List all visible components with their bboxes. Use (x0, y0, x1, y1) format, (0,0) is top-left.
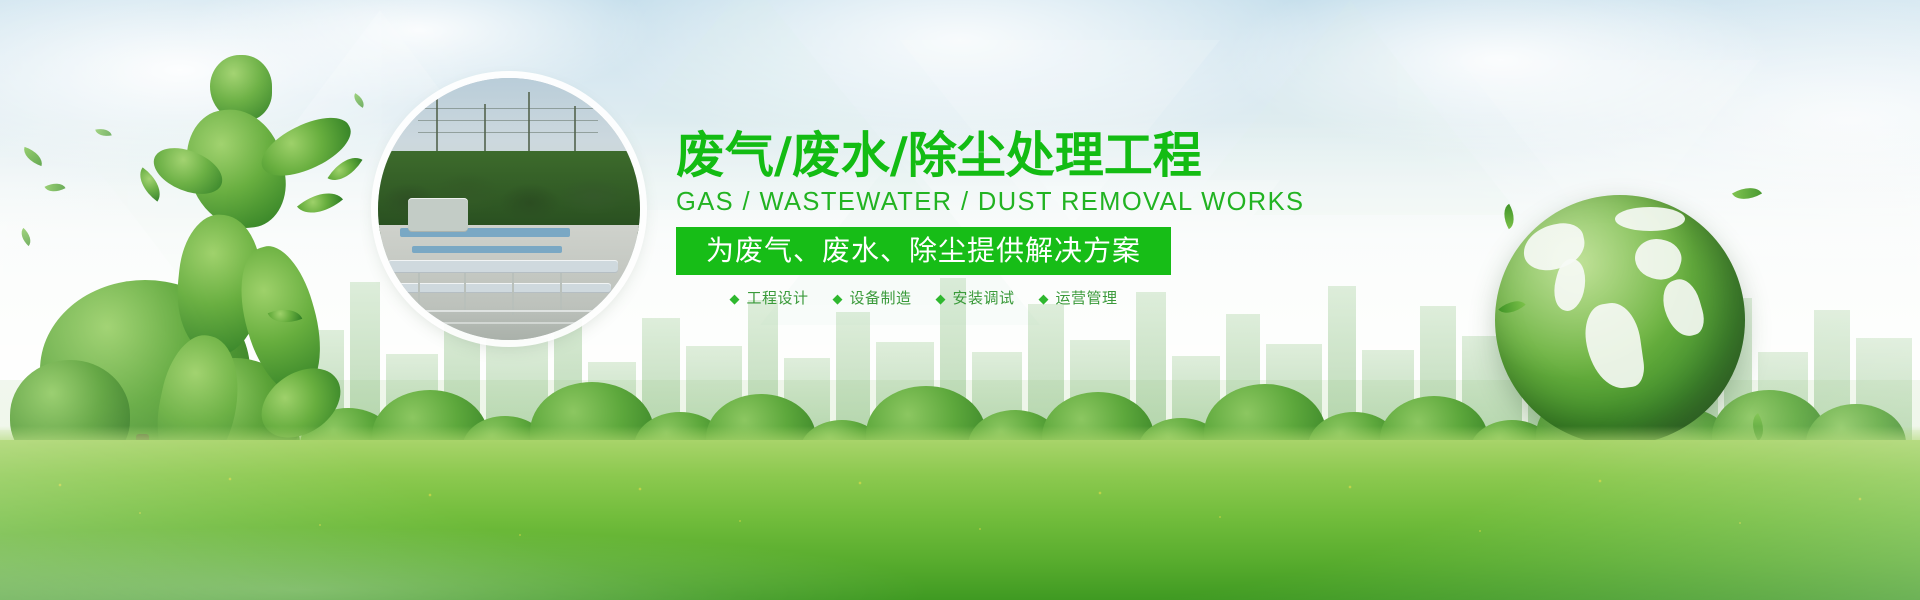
plant-photo-circle (378, 78, 640, 340)
service-bullet-item[interactable]: ◆ 运营管理 (1039, 289, 1118, 307)
service-bullet-item[interactable]: ◆ 安装调试 (936, 289, 1015, 307)
wildflowers (0, 465, 1920, 560)
eco-engineering-banner: 废气/废水/除尘处理工程 GAS / WASTEWATER / DUST REM… (0, 0, 1920, 600)
service-bullet-list: ◆ 工程设计 ◆ 设备制造 ◆ 安装调试 ◆ 运营管理 (676, 289, 1171, 307)
diamond-icon: ◆ (1039, 292, 1049, 305)
diamond-icon: ◆ (832, 292, 842, 305)
service-bullet-label: 设备制造 (849, 289, 911, 307)
service-bullet-label: 安装调试 (953, 289, 1015, 307)
banner-text-block: 废气/废水/除尘处理工程 GAS / WASTEWATER / DUST REM… (676, 128, 1196, 307)
service-bullet-label: 工程设计 (746, 289, 808, 307)
diamond-icon: ◆ (936, 292, 946, 305)
diamond-icon: ◆ (729, 292, 739, 305)
tagline-text: 为废气、废水、除尘提供解决方案 (706, 236, 1141, 266)
service-bullet-label: 运营管理 (1056, 289, 1118, 307)
tagline-bar: 为废气、废水、除尘提供解决方案 (676, 227, 1171, 275)
banner-subtitle-english: GAS / WASTEWATER / DUST REMOVAL WORKS (676, 186, 1196, 218)
banner-title: 废气/废水/除尘处理工程 (676, 128, 1196, 184)
service-bullet-item[interactable]: ◆ 工程设计 (729, 289, 808, 307)
service-bullet-item[interactable]: ◆ 设备制造 (832, 289, 911, 307)
earth-globe (1495, 195, 1745, 445)
